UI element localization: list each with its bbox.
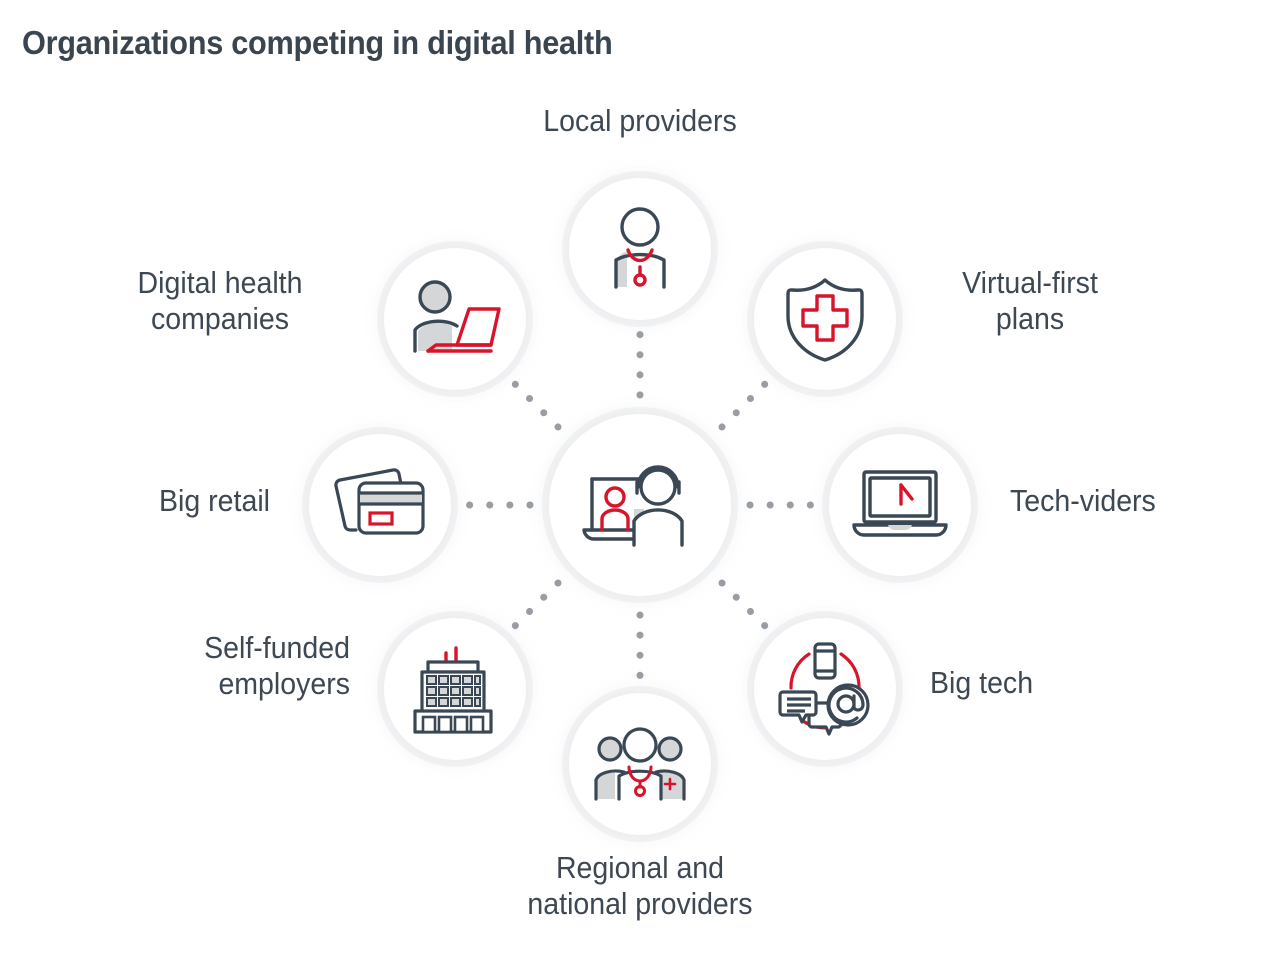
label-self-funded-employers: Self-funded employers xyxy=(46,630,350,702)
label-big-retail: Big retail xyxy=(40,483,270,519)
spoke-node-self-funded-employers[interactable] xyxy=(384,618,526,760)
spoke-node-tech-viders[interactable] xyxy=(829,434,971,576)
label-self-funded-line1: Self-funded xyxy=(46,630,350,666)
spoke-node-big-tech[interactable] xyxy=(754,618,896,760)
label-self-funded-line2: employers xyxy=(46,666,350,702)
label-tech-viders: Tech-viders xyxy=(1010,483,1280,519)
hub-and-spoke-diagram: Local providers Virtual-first plans xyxy=(0,0,1280,961)
provider-group-icon xyxy=(590,723,690,805)
connector-bottom-right xyxy=(722,583,775,636)
spoke-node-big-retail[interactable] xyxy=(309,434,451,576)
label-virtual-first-plans: Virtual-first plans xyxy=(855,265,1205,337)
laptop-cursor-icon xyxy=(852,468,948,542)
payment-cards-icon xyxy=(332,467,428,543)
connector-bottom-left xyxy=(505,583,558,636)
label-virtual-first-line2: plans xyxy=(855,301,1205,337)
label-big-tech: Big tech xyxy=(930,665,1206,701)
label-digital-health-line1: Digital health xyxy=(73,265,367,301)
spoke-node-regional-national-providers[interactable] xyxy=(569,693,711,835)
label-local-providers: Local providers xyxy=(456,103,824,139)
label-virtual-first-line1: Virtual-first xyxy=(855,265,1205,301)
person-laptop-icon xyxy=(406,279,504,359)
telehealth-consult-icon xyxy=(580,451,700,559)
spoke-node-digital-health-companies[interactable] xyxy=(384,248,526,390)
label-regional-line2: national providers xyxy=(456,886,824,922)
label-digital-health-companies: Digital health companies xyxy=(73,265,367,337)
doctor-stethoscope-icon xyxy=(597,205,683,293)
office-building-icon xyxy=(412,644,498,734)
connector-top-right xyxy=(722,374,775,427)
spoke-node-local-providers[interactable] xyxy=(569,178,711,320)
hub-node-telehealth[interactable] xyxy=(549,414,731,596)
label-digital-health-line2: companies xyxy=(73,301,367,337)
label-regional-national-providers: Regional and national providers xyxy=(456,850,824,922)
label-regional-line1: Regional and xyxy=(456,850,824,886)
connector-top-left xyxy=(505,374,558,427)
connected-devices-icon xyxy=(778,642,872,736)
